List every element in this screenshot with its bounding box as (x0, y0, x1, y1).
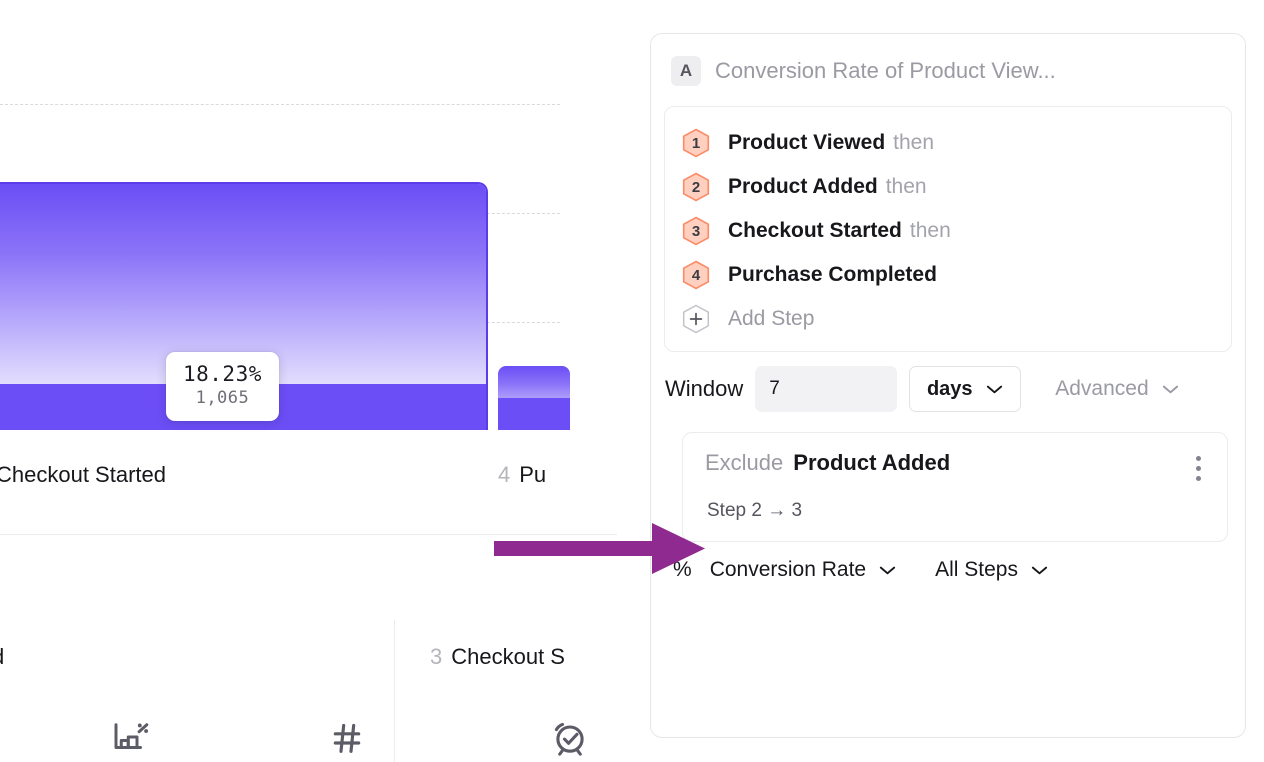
step-number: 2 (692, 179, 700, 196)
metric-type-select[interactable]: Conversion Rate (710, 558, 897, 582)
window-value-input[interactable] (755, 366, 897, 412)
metric-tile-left-label: d (0, 644, 4, 670)
funnel-step-4[interactable]: 4 Purchase Completed (665, 253, 1231, 297)
advanced-options-button[interactable]: Advanced (1055, 377, 1179, 401)
axis-tick-text: Checkout Started (0, 462, 166, 487)
step-number-hex-icon: 1 (682, 128, 710, 158)
window-unit-value: days (927, 378, 973, 401)
step-event-name: Purchase Completed (728, 263, 937, 286)
metric-controls-row: % Conversion Rate All Steps (651, 542, 1245, 582)
section-divider (0, 534, 617, 535)
funnel-chart-pane: 18.23% 1,065 Checkout Started 4Pu d 3Che… (0, 0, 617, 762)
funnel-steps-card: 1 Product Viewedthen 2 Product Addedthen (664, 106, 1232, 352)
add-step-button[interactable]: Add Step (665, 297, 1231, 341)
axis-tick-text: Pu (519, 462, 546, 487)
step-number: 3 (692, 223, 700, 240)
exclude-step-range: Step 2 → 3 (707, 500, 1209, 522)
metric-tile-right-label: 3Checkout S (430, 644, 565, 670)
query-header: A Conversion Rate of Product View... (651, 34, 1245, 106)
step-1-text: Product Viewedthen (728, 131, 934, 155)
chart-tooltip: 18.23% 1,065 (166, 352, 279, 421)
percent-icon: % (673, 558, 692, 582)
metric-label-text: Checkout S (451, 644, 565, 669)
step-number: 4 (692, 267, 700, 284)
step-connector: then (886, 175, 927, 198)
step-event-name: Product Viewed (728, 131, 885, 154)
chevron-down-icon (878, 564, 897, 576)
step-number-hex-icon: 3 (682, 216, 710, 246)
funnel-percent-icon[interactable] (108, 716, 152, 762)
step-number-hex-icon: 2 (682, 172, 710, 202)
query-letter-badge: A (671, 56, 701, 86)
tooltip-count: 1,065 (183, 387, 262, 410)
kebab-menu-icon[interactable] (1187, 450, 1209, 481)
exclude-prefix-label: Exclude (705, 450, 783, 476)
funnel-step-1[interactable]: 1 Product Viewedthen (665, 121, 1231, 165)
hash-icon[interactable] (327, 718, 367, 762)
step-scope-select[interactable]: All Steps (935, 558, 1049, 582)
metric-type-value: Conversion Rate (710, 558, 866, 582)
exclude-rule-header: Exclude Product Added (705, 450, 1209, 481)
metric-label-index: 3 (430, 644, 442, 669)
window-unit-select[interactable]: days (909, 366, 1021, 412)
axis-tick-purchase-completed: 4Pu (498, 462, 546, 488)
metric-label-text: d (0, 644, 4, 669)
bar-solid-base (498, 398, 570, 430)
exclude-event-name: Product Added (793, 450, 950, 476)
step-2-text: Product Addedthen (728, 175, 927, 199)
add-step-label: Add Step (728, 307, 814, 331)
step-event-name: Product Added (728, 175, 878, 198)
kebab-dot (1196, 466, 1201, 471)
chart-plot-area: 18.23% 1,065 (0, 0, 617, 452)
chevron-down-icon (1030, 564, 1049, 576)
exclude-rule-card[interactable]: Exclude Product Added Step 2 → 3 (682, 432, 1228, 542)
bar-purchase-completed[interactable] (498, 366, 570, 430)
step-3-text: Checkout Startedthen (728, 219, 951, 243)
kebab-dot (1196, 456, 1201, 461)
chevron-down-icon (985, 383, 1004, 395)
step-connector: then (910, 219, 951, 242)
step-connector: then (893, 131, 934, 154)
gridline (0, 104, 560, 105)
plus-hex-icon (682, 304, 710, 334)
step-event-name: Checkout Started (728, 219, 902, 242)
conversion-window-row: Window days Advanced (651, 352, 1245, 424)
advanced-label: Advanced (1055, 377, 1148, 401)
funnel-step-2[interactable]: 2 Product Addedthen (665, 165, 1231, 209)
step-4-text: Purchase Completed (728, 263, 945, 287)
window-label: Window (665, 376, 743, 402)
tooltip-percent: 18.23% (183, 361, 262, 387)
axis-tick-checkout-started: Checkout Started (0, 462, 166, 488)
step-scope-value: All Steps (935, 558, 1018, 582)
step-number-hex-icon: 4 (682, 260, 710, 290)
funnel-step-3[interactable]: 3 Checkout Startedthen (665, 209, 1231, 253)
axis-tick-index: 4 (498, 462, 510, 487)
query-title[interactable]: Conversion Rate of Product View... (715, 58, 1056, 84)
chevron-down-icon (1161, 383, 1180, 395)
query-builder-panel: A Conversion Rate of Product View... 1 P… (650, 33, 1246, 738)
kebab-dot (1196, 476, 1201, 481)
step-number: 1 (692, 135, 700, 152)
circle-check-icon[interactable] (548, 716, 592, 762)
